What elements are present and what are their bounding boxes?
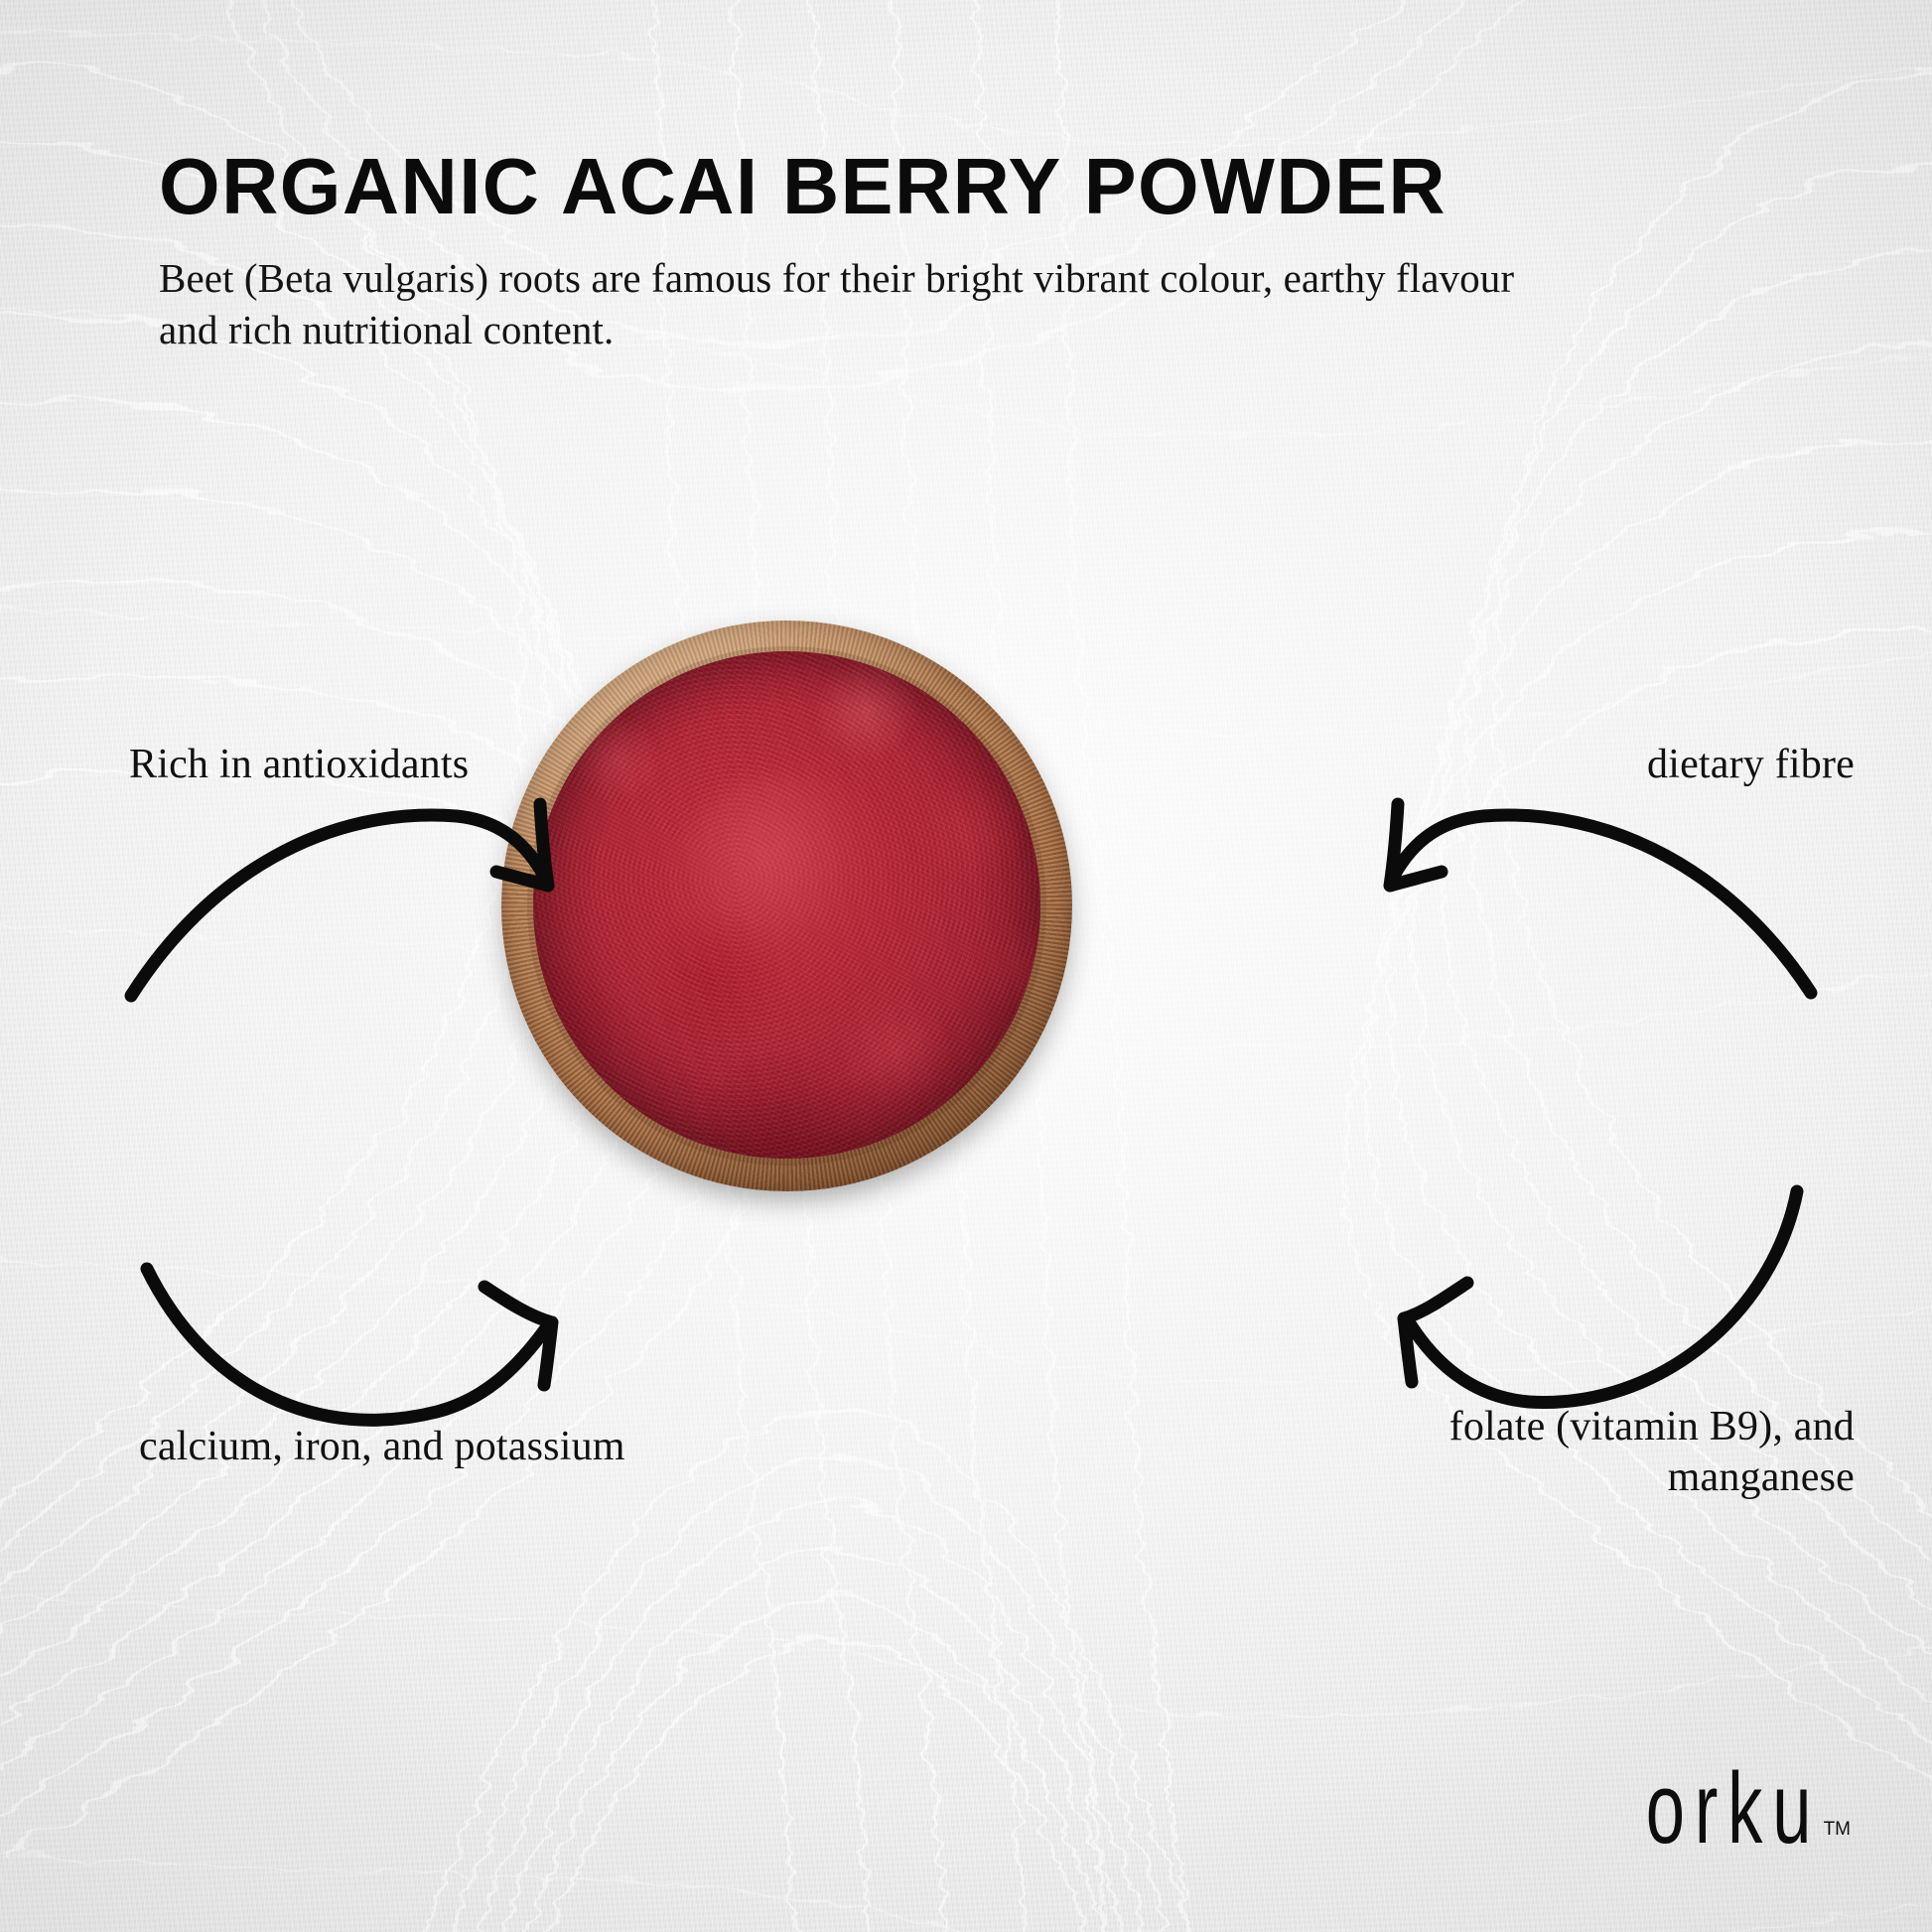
callout-label-bottom-left: calcium, iron, and potassium (139, 1422, 635, 1472)
brand-logo: orku TM (1607, 1780, 1851, 1851)
brand-logo-wordmark: orku (1646, 1768, 1822, 1851)
callout-label-top-left: Rich in antioxidants (129, 740, 685, 790)
header-block: ORGANIC ACAI BERRY POWDER Beet (Beta vul… (159, 147, 1708, 356)
callout-label-top-right: dietary fibre (1299, 740, 1855, 790)
acai-berry-powder (533, 651, 1040, 1159)
infographic-page: ORGANIC ACAI BERRY POWDER Beet (Beta vul… (0, 0, 1932, 1932)
powder-inner-shadow (533, 651, 1040, 1159)
product-bowl-image (501, 621, 1072, 1191)
callout-label-bottom-right: folate (vitamin B9), and manganese (1299, 1402, 1855, 1503)
page-subtitle: Beet (Beta vulgaris) roots are famous fo… (159, 252, 1569, 356)
trademark-symbol: TM (1824, 1819, 1851, 1841)
page-title: ORGANIC ACAI BERRY POWDER (159, 147, 1692, 226)
